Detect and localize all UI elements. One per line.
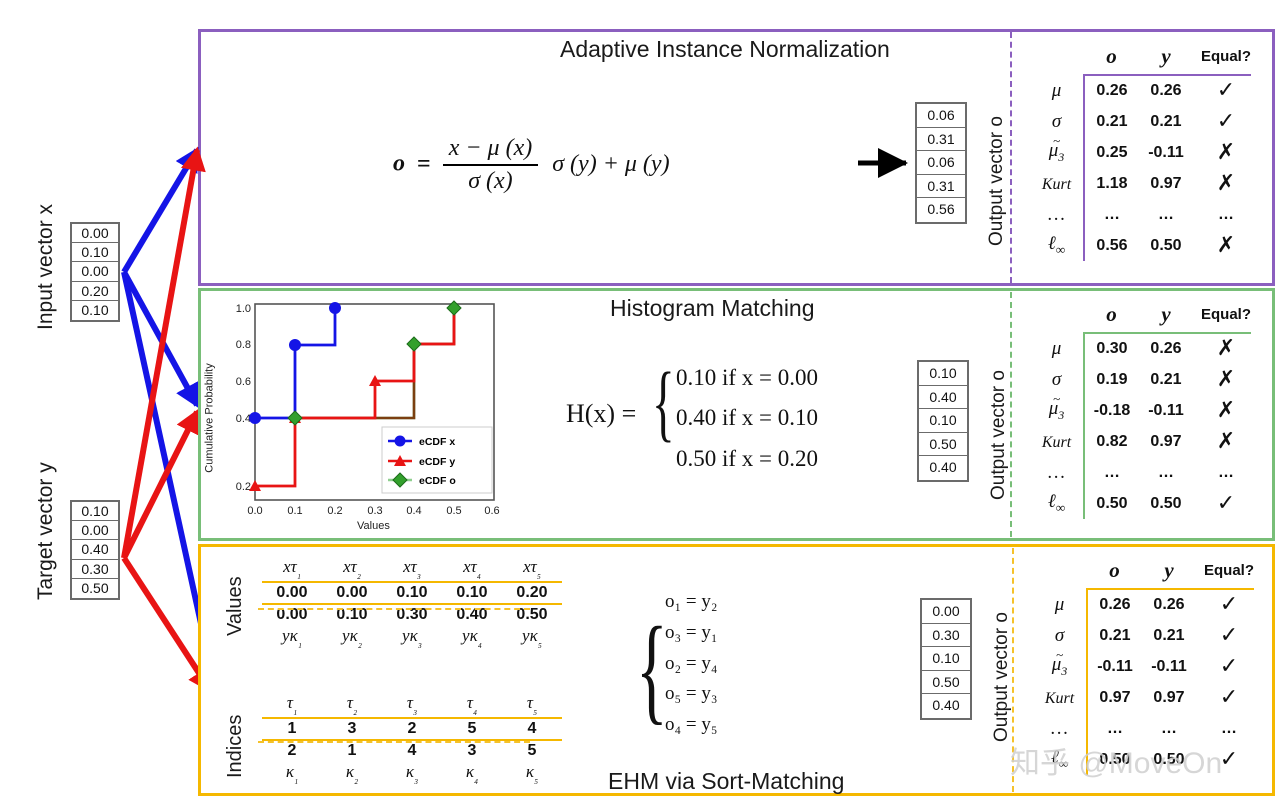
svg-text:0.5: 0.5 (446, 505, 461, 517)
vector-cell: 0.10 (72, 301, 118, 320)
stats-row: μ0.260.26✓ (1033, 589, 1254, 620)
stats-row-o: 0.82 (1084, 426, 1139, 457)
watermark: 知乎 @MoveOn (1010, 738, 1222, 782)
sm-header-cell: κ₁ (262, 761, 322, 786)
sm-value-cell: 3 (442, 740, 502, 761)
ehm-mapping-1: o₁ = y₂ (665, 587, 717, 618)
stats-row-equal: ✓ (1196, 620, 1254, 651)
stats-row-symbol: … (1030, 457, 1084, 488)
stats-row-o: 0.21 (1084, 106, 1139, 137)
sm-value-cell: 0.20 (502, 582, 562, 604)
stats-row-y: 0.26 (1139, 333, 1193, 364)
ehm-output-vector: 0.000.300.100.500.40 (920, 598, 972, 720)
sm-bottom-headers: yκ₁yκ₂yκ₃yκ₄yκ₅ (262, 625, 562, 650)
sm-header-cell: yκ₃ (382, 625, 442, 650)
stats-row-equal: … (1193, 457, 1251, 488)
sm-value-cell: 0.10 (382, 582, 442, 604)
stats-row-o: -0.18 (1084, 395, 1139, 426)
stats-row-o: 0.97 (1087, 682, 1142, 713)
stats-row-o: … (1084, 199, 1139, 230)
stats-row-o: 0.21 (1087, 620, 1142, 651)
svg-text:eCDF o: eCDF o (419, 475, 456, 487)
target-vector-y: 0.100.000.400.300.50 (70, 500, 120, 600)
ecdf-legend: eCDF x eCDF y eCDF o (382, 427, 492, 493)
stats-header-o: o (1084, 302, 1139, 327)
svg-text:eCDF y: eCDF y (419, 456, 455, 468)
sm-header-cell: τ₄ (442, 692, 502, 718)
sm-row-lower: 21435 (262, 740, 562, 761)
adain-formula-rhs: σ (y) + μ (y) (552, 151, 669, 177)
stats-row-symbol: ~μ3 (1030, 395, 1084, 426)
stats-row-symbol: … (1030, 199, 1084, 230)
stats-row-equal: ✗ (1193, 230, 1251, 261)
sm-header-cell: τ₃ (382, 692, 442, 718)
stats-row: ~μ30.25-0.11✗ (1030, 137, 1251, 168)
stats-row-symbol: μ (1033, 589, 1087, 620)
adain-formula-numerator: x − μ (x) (443, 135, 539, 166)
panel-adain-title: Adaptive Instance Normalization (560, 36, 890, 63)
stats-row-equal: ✗ (1193, 364, 1251, 395)
sm-row-upper: 0.000.000.100.100.20 (262, 582, 562, 604)
sm-header-cell: τ₂ (322, 692, 382, 718)
histmatch-case-3: 0.50 if x = 0.20 (676, 439, 818, 479)
svg-text:0.2: 0.2 (327, 505, 342, 517)
ehm-mapping-3: o₂ = y₄ (665, 649, 717, 680)
stats-row: Kurt0.970.97✓ (1033, 682, 1254, 713)
vector-cell: 0.40 (919, 456, 967, 480)
stats-row-y: 0.97 (1139, 168, 1193, 199)
panel-ehm-title: EHM via Sort-Matching (608, 768, 844, 795)
sm-header-cell: xτ₄ (442, 556, 502, 582)
stats-row-o: 0.56 (1084, 230, 1139, 261)
stats-row: ~μ3-0.11-0.11✓ (1033, 651, 1254, 682)
stats-header-equal: Equal? (1196, 558, 1254, 583)
ecdf-plot-svg: 1.0 0.8 0.6 0.4 0.2 0.0 0.1 0.2 0.3 0.4 … (207, 292, 507, 537)
vector-cell: 0.00 (72, 262, 118, 281)
stats-row-equal: ✗ (1193, 333, 1251, 364)
sm-header-cell: τ₁ (262, 692, 322, 718)
stats-row-o: 0.26 (1087, 589, 1142, 620)
panel-histmatch-title: Histogram Matching (610, 295, 815, 322)
vector-cell: 0.10 (922, 647, 970, 671)
vector-cell: 0.10 (72, 243, 118, 262)
stats-row-symbol: Kurt (1030, 168, 1084, 199)
stats-row-equal: ✗ (1193, 395, 1251, 426)
stats-row-symbol: ℓ∞ (1030, 230, 1084, 261)
adain-divider (1010, 32, 1012, 283)
ehm-mapping: o₁ = y₂ o₃ = y₁ o₂ = y₄ o₅ = y₃ o₄ = y₅ (665, 587, 717, 741)
sm-header-cell: κ₄ (442, 761, 502, 786)
stats-row-y: 0.26 (1142, 589, 1196, 620)
svg-text:0.8: 0.8 (236, 339, 251, 351)
ecdf-xlabel: Values (357, 520, 390, 532)
sm-header-cell: τ₅ (502, 692, 562, 718)
stats-row-y: 0.50 (1139, 488, 1193, 519)
vector-cell: 0.50 (922, 671, 970, 695)
stats-row-o: 0.25 (1084, 137, 1139, 168)
stats-row-equal: ✓ (1193, 75, 1251, 106)
ecdf-ylabel: Cumulative Probability (204, 363, 216, 472)
ehm-values-label: Values (224, 576, 247, 636)
sm-header-cell: κ₅ (502, 761, 562, 786)
ehm-values-dashed-separator (258, 608, 530, 610)
stats-row-y: -0.11 (1139, 137, 1193, 168)
stats-header-equal: Equal? (1193, 302, 1251, 327)
sm-value-cell: 1 (262, 718, 322, 740)
stats-row-y: 0.21 (1139, 106, 1193, 137)
stats-header-row: oyEqual? (1030, 302, 1251, 327)
stats-row-symbol: Kurt (1033, 682, 1087, 713)
sm-header-cell: yκ₁ (262, 625, 322, 650)
stats-row-y: 0.97 (1139, 426, 1193, 457)
stats-table: oyEqual?μ0.300.26✗σ0.190.21✗~μ3-0.18-0.1… (1030, 302, 1251, 519)
stats-row-y: 0.21 (1139, 364, 1193, 395)
stats-row-equal: ✓ (1196, 682, 1254, 713)
stats-header-equal: Equal? (1193, 44, 1251, 69)
sm-header-cell: κ₃ (382, 761, 442, 786)
svg-text:0.2: 0.2 (236, 481, 251, 493)
vector-cell: 0.10 (919, 362, 967, 386)
stats-row-symbol: Kurt (1030, 426, 1084, 457)
svg-text:0.4: 0.4 (236, 413, 251, 425)
svg-text:0.4: 0.4 (406, 505, 421, 517)
sm-header-cell: yκ₅ (502, 625, 562, 650)
stats-row: ………… (1030, 199, 1251, 230)
stats-row-y: 0.50 (1139, 230, 1193, 261)
vector-cell: 0.30 (72, 560, 118, 579)
sm-value-cell: 0.00 (262, 582, 322, 604)
stats-header-y: y (1139, 44, 1193, 69)
stats-row-equal: ✓ (1196, 651, 1254, 682)
adain-formula-denominator: σ (x) (443, 166, 539, 195)
vector-cell: 0.10 (919, 409, 967, 433)
stats-row-o: 0.26 (1084, 75, 1139, 106)
sm-header-cell: xτ₂ (322, 556, 382, 582)
svg-text:0.0: 0.0 (247, 505, 262, 517)
histmatch-brace: { (652, 352, 675, 452)
ecdf-chart: Cumulative Probability 1.0 0.8 0.6 0.4 0… (207, 292, 507, 537)
sm-value-cell: 2 (262, 740, 322, 761)
stats-row-y: 0.21 (1142, 620, 1196, 651)
stats-row-symbol: ~μ3 (1033, 651, 1087, 682)
vector-cell: 0.31 (917, 175, 965, 199)
stats-row-y: … (1139, 199, 1193, 230)
vector-cell: 0.20 (72, 282, 118, 301)
sm-value-cell: 0.10 (442, 582, 502, 604)
stats-row-equal: ✓ (1193, 488, 1251, 519)
stats-row: μ0.260.26✓ (1030, 75, 1251, 106)
vector-cell: 0.00 (72, 521, 118, 540)
vector-cell: 0.06 (917, 104, 965, 128)
stats-row: Kurt1.180.97✗ (1030, 168, 1251, 199)
sm-value-cell: 0.00 (322, 582, 382, 604)
ehm-indices-label: Indices (224, 715, 247, 778)
input-vector-x-label: Input vector x (34, 204, 58, 330)
adain-output-vector-label: Output vector o (986, 116, 1008, 246)
stats-row-equal: … (1193, 199, 1251, 230)
ehm-values-table: xτ₁xτ₂xτ₃xτ₄xτ₅0.000.000.100.100.200.000… (262, 556, 562, 651)
stats-row-symbol: ℓ∞ (1030, 488, 1084, 519)
ehm-mapping-5: o₄ = y₅ (665, 710, 717, 741)
vector-cell: 0.00 (72, 224, 118, 243)
stats-header-row: oyEqual? (1030, 44, 1251, 69)
stats-row-symbol: ~μ3 (1030, 137, 1084, 168)
stats-row-o: -0.11 (1087, 651, 1142, 682)
sm-value-cell: 2 (382, 718, 442, 740)
svg-text:0.6: 0.6 (484, 505, 499, 517)
stats-row-equal: ✓ (1196, 589, 1254, 620)
histmatch-output-vector: 0.100.400.100.500.40 (917, 360, 969, 482)
sort-match-table: τ₁τ₂τ₃τ₄τ₅1325421435κ₁κ₂κ₃κ₄κ₅ (262, 692, 562, 787)
sm-value-cell: 4 (382, 740, 442, 761)
stats-row-symbol: μ (1030, 75, 1084, 106)
adain-formula-fraction: x − μ (x) σ (x) (443, 135, 539, 195)
stats-row: ℓ∞0.560.50✗ (1030, 230, 1251, 261)
ehm-brace: { (636, 600, 668, 738)
ehm-output-vector-label: Output vector o (991, 612, 1013, 742)
stats-header-y: y (1139, 302, 1193, 327)
stats-row: Kurt0.820.97✗ (1030, 426, 1251, 457)
sm-value-cell: 3 (322, 718, 382, 740)
histmatch-stats-table: oyEqual?μ0.300.26✗σ0.190.21✗~μ3-0.18-0.1… (1030, 302, 1251, 519)
vector-cell: 0.50 (919, 433, 967, 457)
stats-row-o: 0.30 (1084, 333, 1139, 364)
vector-cell: 0.50 (72, 579, 118, 598)
histmatch-divider (1010, 292, 1012, 537)
vector-cell: 0.40 (919, 386, 967, 410)
stats-row-equal: ✗ (1193, 168, 1251, 199)
stats-header-o: o (1084, 44, 1139, 69)
stats-row-y: -0.11 (1142, 651, 1196, 682)
stats-row-o: 0.19 (1084, 364, 1139, 395)
svg-text:0.3: 0.3 (367, 505, 382, 517)
svg-text:0.1: 0.1 (287, 505, 302, 517)
ehm-indices-dashed-separator (258, 741, 530, 743)
vector-cell: 0.30 (922, 624, 970, 648)
adain-stats-table: oyEqual?μ0.260.26✓σ0.210.21✓~μ30.25-0.11… (1030, 44, 1251, 261)
stats-row-o: … (1084, 457, 1139, 488)
stats-row: ………… (1030, 457, 1251, 488)
vector-cell: 0.56 (917, 198, 965, 222)
sm-top-headers: xτ₁xτ₂xτ₃xτ₄xτ₅ (262, 556, 562, 582)
vector-cell: 0.40 (72, 540, 118, 559)
sm-top-headers: τ₁τ₂τ₃τ₄τ₅ (262, 692, 562, 718)
stats-header-o: o (1087, 558, 1142, 583)
stats-row-equal: ✗ (1193, 426, 1251, 457)
stats-row-y: 0.26 (1139, 75, 1193, 106)
sm-header-cell: xτ₅ (502, 556, 562, 582)
vector-cell: 0.31 (917, 128, 965, 152)
target-vector-y-label: Target vector y (34, 462, 58, 600)
adain-formula: o = x − μ (x) σ (x) σ (y) + μ (y) (393, 135, 670, 195)
sm-header-cell: xτ₁ (262, 556, 322, 582)
histmatch-cases: 0.10 if x = 0.00 0.40 if x = 0.10 0.50 i… (676, 358, 818, 479)
vector-cell: 0.10 (72, 502, 118, 521)
stats-table: oyEqual?μ0.260.26✓σ0.210.21✓~μ30.25-0.11… (1030, 44, 1251, 261)
vector-cell: 0.00 (922, 600, 970, 624)
sm-header-cell: κ₂ (322, 761, 382, 786)
adain-formula-eq: = (417, 151, 431, 177)
adain-formula-lhs: o (393, 151, 405, 177)
sm-value-cell: 5 (442, 718, 502, 740)
stats-row-o: 0.50 (1084, 488, 1139, 519)
stats-header-row: oyEqual? (1033, 558, 1254, 583)
stats-header-y: y (1142, 558, 1196, 583)
sm-header-cell: yκ₂ (322, 625, 382, 650)
sm-value-cell: 4 (502, 718, 562, 740)
input-vector-x: 0.000.100.000.200.10 (70, 222, 120, 322)
sort-match-table: xτ₁xτ₂xτ₃xτ₄xτ₅0.000.000.100.100.200.000… (262, 556, 562, 651)
sm-header-cell: xτ₃ (382, 556, 442, 582)
stats-row-o: 1.18 (1084, 168, 1139, 199)
histmatch-function-name: H(x) = (566, 399, 636, 429)
histmatch-output-vector-label: Output vector o (988, 370, 1010, 500)
svg-text:eCDF x: eCDF x (419, 436, 455, 448)
sm-value-cell: 5 (502, 740, 562, 761)
histmatch-hx-label: H(x) = (566, 399, 636, 428)
sm-value-cell: 1 (322, 740, 382, 761)
stats-row-y: … (1139, 457, 1193, 488)
stats-row-y: -0.11 (1139, 395, 1193, 426)
stats-row: μ0.300.26✗ (1030, 333, 1251, 364)
sm-header-cell: yκ₄ (442, 625, 502, 650)
stats-row-symbol: μ (1030, 333, 1084, 364)
stats-row: ~μ3-0.18-0.11✗ (1030, 395, 1251, 426)
vector-cell: 0.06 (917, 151, 965, 175)
stats-row-equal: ✓ (1193, 106, 1251, 137)
stats-row-y: 0.97 (1142, 682, 1196, 713)
stats-row-equal: ✗ (1193, 137, 1251, 168)
sm-row-upper: 13254 (262, 718, 562, 740)
adain-output-vector: 0.060.310.060.310.56 (915, 102, 967, 224)
svg-text:0.6: 0.6 (236, 376, 251, 388)
stats-row: ℓ∞0.500.50✓ (1030, 488, 1251, 519)
svg-text:1.0: 1.0 (236, 303, 251, 315)
ehm-mapping-2: o₃ = y₁ (665, 618, 717, 649)
ehm-indices-table: τ₁τ₂τ₃τ₄τ₅1325421435κ₁κ₂κ₃κ₄κ₅ (262, 692, 562, 787)
sm-bottom-headers: κ₁κ₂κ₃κ₄κ₅ (262, 761, 562, 786)
histmatch-case-1: 0.10 if x = 0.00 (676, 358, 818, 398)
ehm-mapping-4: o₅ = y₃ (665, 679, 717, 710)
vector-cell: 0.40 (922, 694, 970, 718)
histmatch-case-2: 0.40 if x = 0.10 (676, 398, 818, 438)
